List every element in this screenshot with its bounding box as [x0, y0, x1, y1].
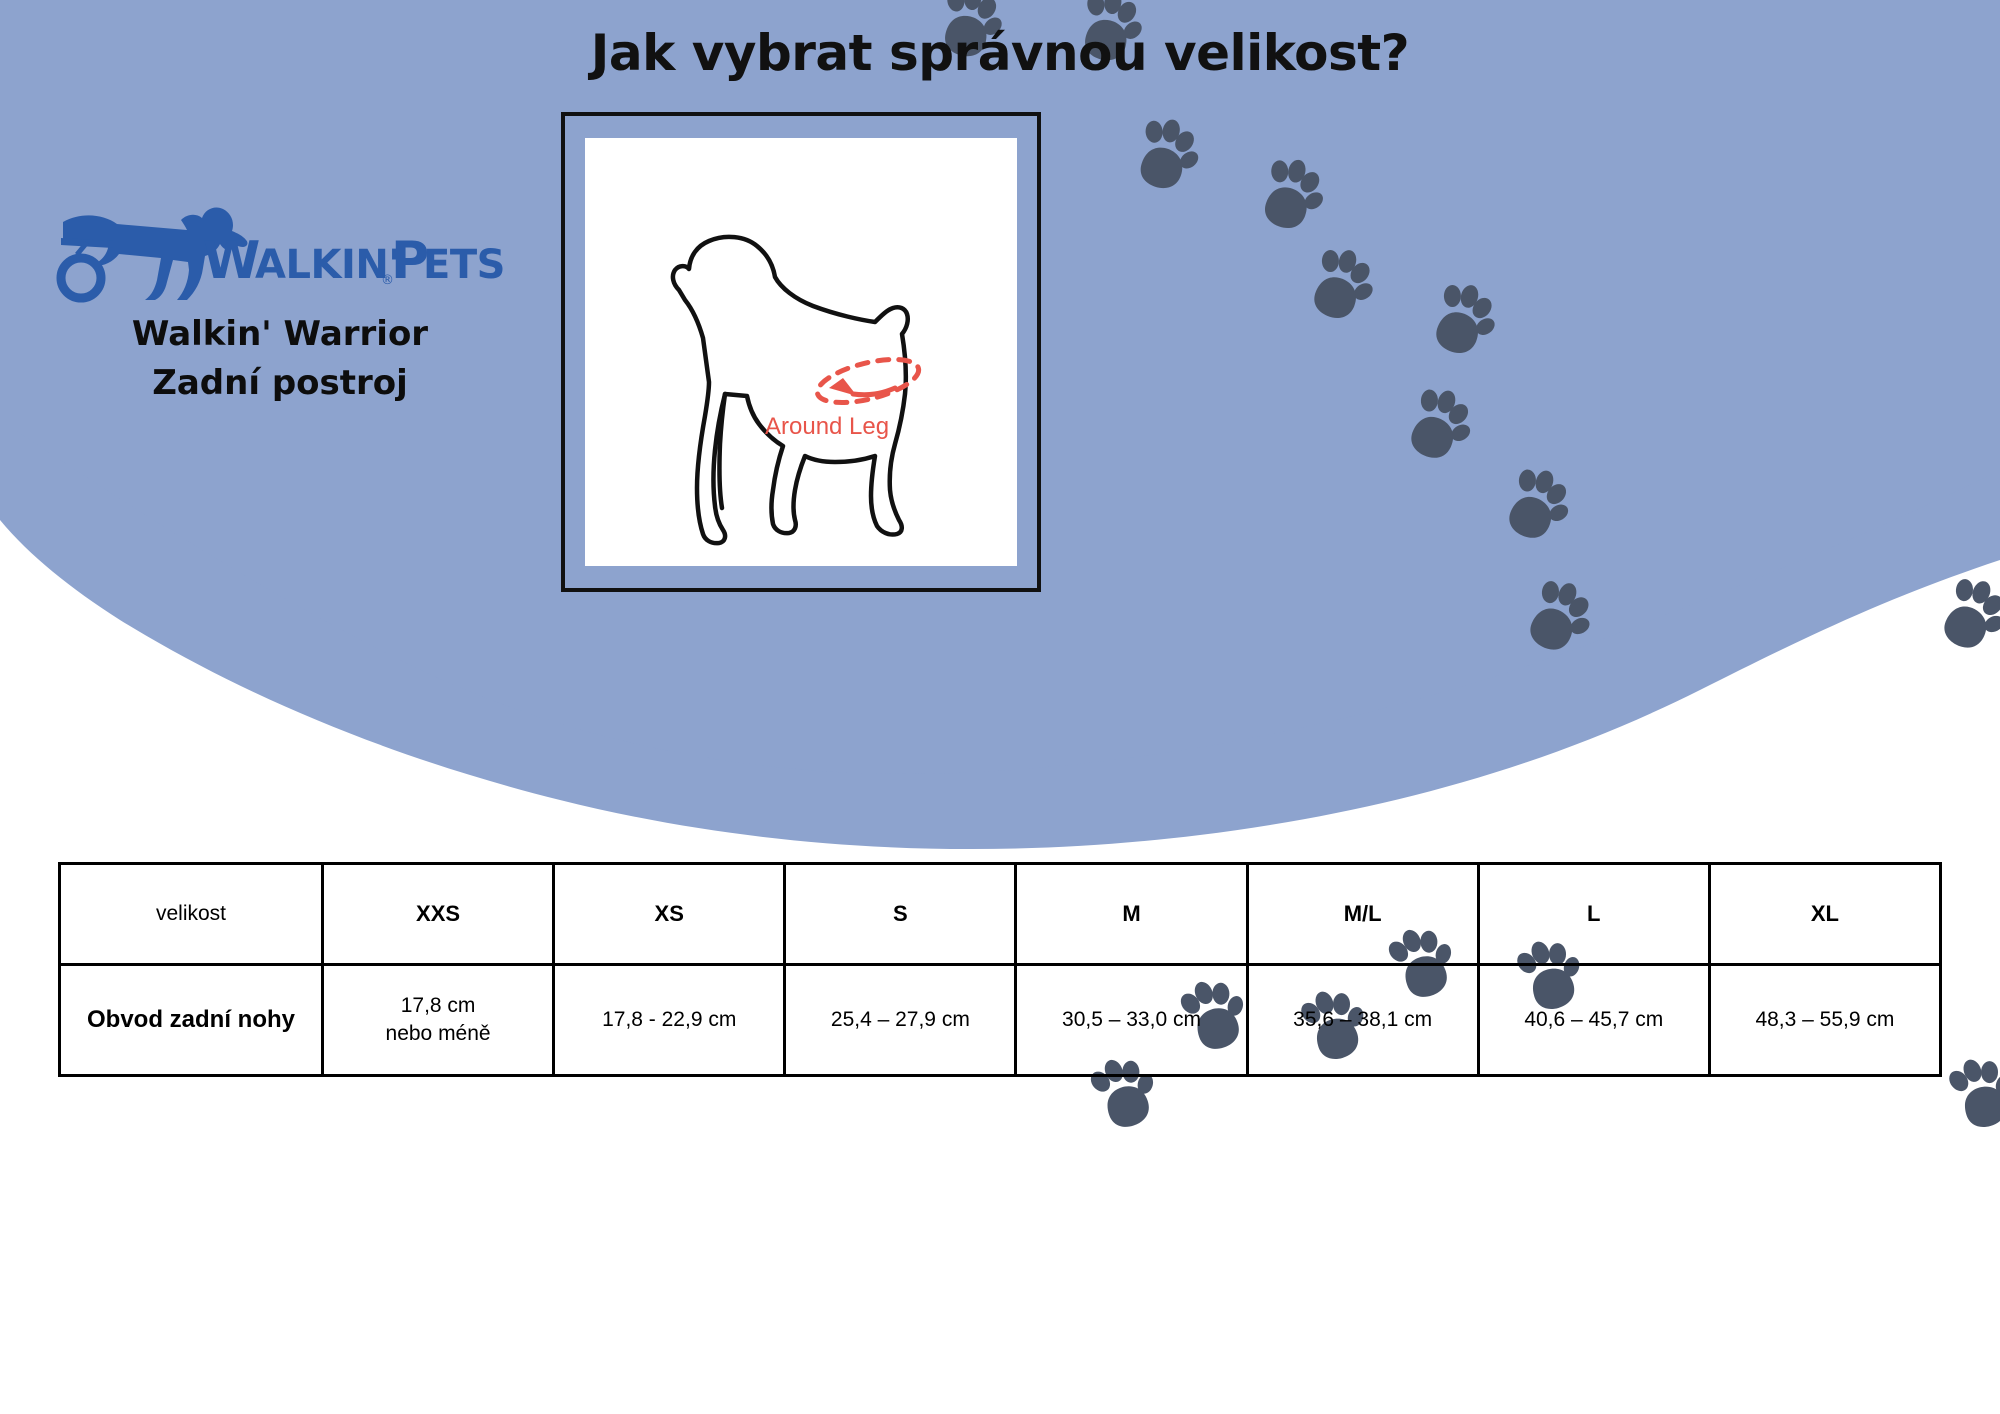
svg-text:®: ® [381, 273, 394, 288]
table-header-size-m: M [1016, 864, 1247, 965]
product-line-1: Walkin' Warrior [55, 310, 505, 359]
table-header-size-xs: XS [554, 864, 785, 965]
table-cell-measure-xl: 48,3 – 55,9 cm [1709, 965, 1940, 1076]
table-header-size-xxs: XXS [323, 864, 554, 965]
table-cell-measure-xxs: 17,8 cmnebo méně [323, 965, 554, 1076]
around-leg-label: Around Leg [765, 413, 889, 441]
product-name-block: Walkin' Warrior Zadní postroj [55, 310, 505, 409]
diagram-border-frame [561, 112, 1041, 592]
table-data-row: Obvod zadní nohy 17,8 cmnebo méně 17,8 -… [60, 965, 1941, 1076]
svg-text:ETS: ETS [423, 242, 505, 288]
table-header-row: velikost XXS XS S M M/L L XL [60, 864, 1941, 965]
size-chart-poster: Jak vybrat správnou velikost? W ALKIN' P… [0, 0, 2000, 1414]
table-header-velikost: velikost [60, 864, 323, 965]
table-cell-measure-ml: 35,6 – 38,1 cm [1247, 965, 1478, 1076]
table-header-size-xl: XL [1709, 864, 1940, 965]
table-cell-measure-m: 30,5 – 33,0 cm [1016, 965, 1247, 1076]
table-header-size-ml: M/L [1247, 864, 1478, 965]
product-line-2: Zadní postroj [55, 359, 505, 408]
table-cell-measure-l: 40,6 – 45,7 cm [1478, 965, 1709, 1076]
walkin-pets-logo: W ALKIN' P ETS ® [55, 196, 505, 306]
table-header-size-l: L [1478, 864, 1709, 965]
page-title: Jak vybrat správnou velikost? [0, 24, 2000, 82]
table-cell-measure-xs: 17,8 - 22,9 cm [554, 965, 785, 1076]
table-row-label-obvod-zadni-nohy: Obvod zadní nohy [60, 965, 323, 1076]
svg-text:W: W [203, 231, 259, 291]
table-cell-measure-s: 25,4 – 27,9 cm [785, 965, 1016, 1076]
svg-text:ALKIN': ALKIN' [255, 242, 400, 288]
size-chart-table: velikost XXS XS S M M/L L XL Obvod zadní… [58, 862, 1942, 1077]
walkin-pets-dog-wheelchair-icon: W ALKIN' P ETS ® [55, 196, 505, 306]
table-header-size-s: S [785, 864, 1016, 965]
